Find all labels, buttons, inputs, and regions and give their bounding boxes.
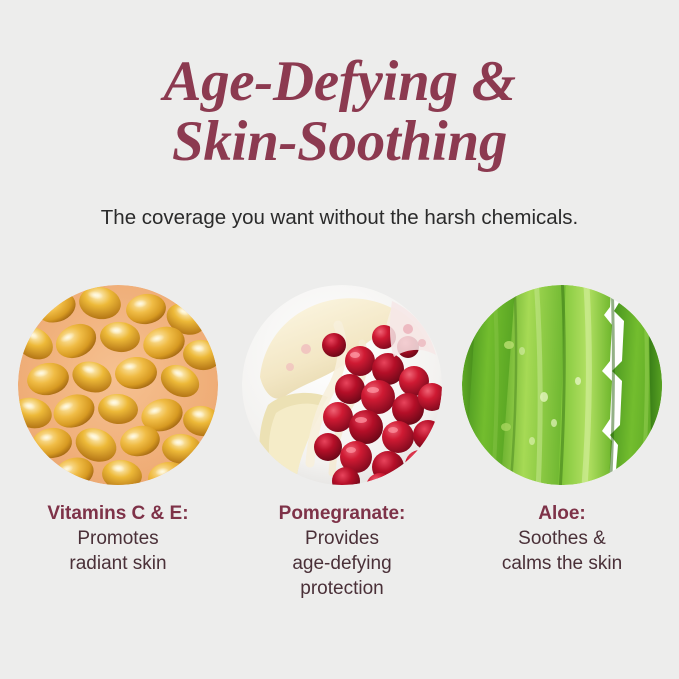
- aloe-vera-leaves-photo: [462, 285, 662, 485]
- ingredient-caption-pomegranate: Pomegranate: Provides age-defying protec…: [227, 502, 457, 601]
- ingredient-column-aloe: Aloe: Soothes & calms the skin: [462, 285, 662, 601]
- ingredient-title: Aloe:: [447, 502, 677, 526]
- ingredient-body-line: calms the skin: [447, 551, 677, 576]
- ingredient-body-line: Promotes: [3, 526, 233, 551]
- headline-line-2: Skin-Soothing: [0, 112, 679, 172]
- ingredient-body: Promotes radiant skin: [3, 526, 233, 576]
- ingredient-columns: Vitamins C & E: Promotes radiant skin: [0, 285, 679, 601]
- promo-graphic: Age-Defying & Skin-Soothing The coverage…: [0, 0, 679, 679]
- ingredient-title: Pomegranate:: [227, 502, 457, 526]
- pomegranate-fruit-photo: [242, 285, 442, 485]
- ingredient-body: Provides age-defying protection: [227, 526, 457, 601]
- ingredient-body-line: radiant skin: [3, 551, 233, 576]
- ingredient-body-line: Soothes &: [447, 526, 677, 551]
- ingredient-caption-aloe: Aloe: Soothes & calms the skin: [447, 502, 677, 576]
- ingredient-body-line: protection: [227, 576, 457, 601]
- ingredient-column-vitamins: Vitamins C & E: Promotes radiant skin: [18, 285, 218, 601]
- vitamin-softgel-capsules-photo: [18, 285, 218, 485]
- page-title: Age-Defying & Skin-Soothing: [0, 52, 679, 172]
- ingredient-body-line: age-defying: [227, 551, 457, 576]
- subtitle: The coverage you want without the harsh …: [0, 205, 679, 231]
- ingredient-title: Vitamins C & E:: [3, 502, 233, 526]
- headline-line-1: Age-Defying &: [0, 52, 679, 112]
- ingredient-caption-vitamins: Vitamins C & E: Promotes radiant skin: [3, 502, 233, 576]
- ingredient-column-pomegranate: Pomegranate: Provides age-defying protec…: [242, 285, 442, 601]
- ingredient-body-line: Provides: [227, 526, 457, 551]
- ingredient-body: Soothes & calms the skin: [447, 526, 677, 576]
